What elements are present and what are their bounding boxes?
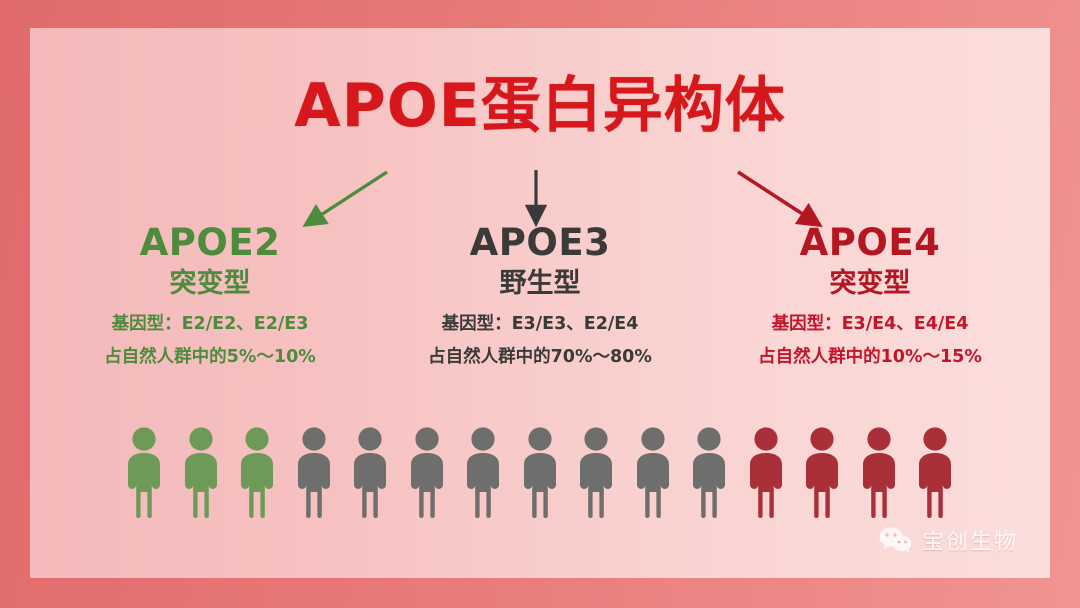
slide-canvas: APOE蛋白异构体	[0, 0, 1080, 608]
apoe4-subtitle: 突变型	[700, 269, 1040, 299]
person-icon-apoe4	[744, 426, 788, 518]
person-icon-apoe3	[687, 426, 731, 518]
apoe3-genotype: 基因型：E3/E3、E2/E4	[370, 314, 710, 334]
apoe4-frequency: 占自然人群中的10%～15%	[700, 347, 1040, 367]
apoe2-frequency: 占自然人群中的5%～10%	[40, 347, 380, 367]
person-icon-apoe2	[235, 426, 279, 518]
apoe3-frequency: 占自然人群中的70%～80%	[370, 347, 710, 367]
person-icon-apoe2	[179, 426, 223, 518]
person-icon-apoe4	[857, 426, 901, 518]
column-apoe2: APOE2 突变型 基因型：E2/E2、E2/E3 占自然人群中的5%～10%	[40, 224, 380, 367]
person-icon-apoe4	[800, 426, 844, 518]
person-icon-apoe4	[913, 426, 957, 518]
watermark-text: 宝创生物	[922, 524, 1018, 556]
page-title: APOE蛋白异构体	[30, 76, 1050, 136]
apoe4-heading: APOE4	[700, 224, 1040, 263]
person-icon-apoe3	[405, 426, 449, 518]
column-apoe4: APOE4 突变型 基因型：E3/E4、E4/E4 占自然人群中的10%～15%	[700, 224, 1040, 367]
apoe3-heading: APOE3	[370, 224, 710, 263]
apoe2-heading: APOE2	[40, 224, 380, 263]
slide-panel: APOE蛋白异构体	[30, 28, 1050, 578]
person-icon-apoe3	[631, 426, 675, 518]
person-icon-apoe3	[348, 426, 392, 518]
population-pictogram	[30, 426, 1050, 526]
watermark: 宝创生物	[879, 524, 1018, 556]
apoe4-genotype: 基因型：E3/E4、E4/E4	[700, 314, 1040, 334]
apoe2-subtitle: 突变型	[40, 269, 380, 299]
person-icon-apoe2	[122, 426, 166, 518]
person-icon-apoe3	[292, 426, 336, 518]
wechat-icon	[879, 526, 913, 554]
person-icon-apoe3	[518, 426, 562, 518]
person-icon-apoe3	[461, 426, 505, 518]
person-icon-apoe3	[574, 426, 618, 518]
column-apoe3: APOE3 野生型 基因型：E3/E3、E2/E4 占自然人群中的70%～80%	[370, 224, 710, 367]
apoe3-subtitle: 野生型	[370, 269, 710, 299]
apoe2-genotype: 基因型：E2/E2、E2/E3	[40, 314, 380, 334]
